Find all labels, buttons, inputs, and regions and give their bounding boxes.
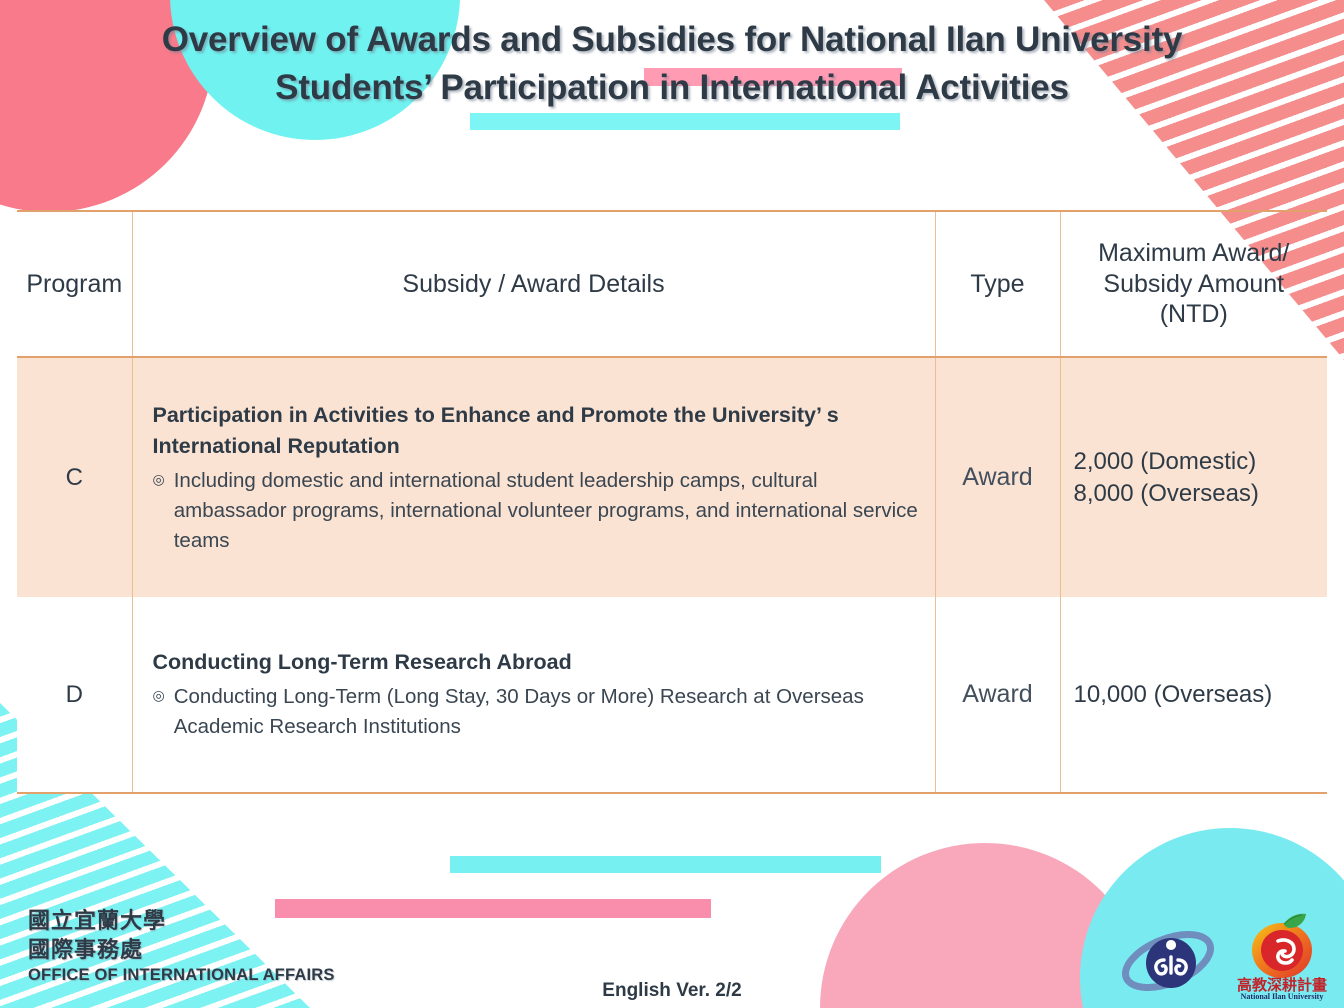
slide-title-line-2: Students’ Participation in International…	[0, 64, 1344, 112]
detail-bullet-d: ◎ Conducting Long-Term (Long Stay, 30 Da…	[153, 682, 919, 741]
table-body: C Participation in Activities to Enhance…	[17, 357, 1327, 793]
footer-organization: 國立宜蘭大學 國際事務處 OFFICE OF INTERNATIONAL AFF…	[28, 906, 335, 986]
column-header-amount-line-1: Maximum Award/	[1098, 239, 1289, 267]
table-row: D Conducting Long-Term Research Abroad ◎…	[17, 597, 1327, 793]
cell-program-d: D	[17, 597, 132, 793]
column-header-details: Subsidy / Award Details	[132, 211, 935, 357]
detail-bullet-text-d: Conducting Long-Term (Long Stay, 30 Days…	[174, 682, 919, 741]
org-name-chinese: 國立宜蘭大學	[28, 906, 335, 935]
column-header-amount-line-2: Subsidy Amount	[1103, 270, 1284, 298]
table-header-row: Program Subsidy / Award Details Type Max…	[17, 211, 1327, 357]
detail-heading-c: Participation in Activities to Enhance a…	[153, 400, 919, 462]
amount-line-2-c: 8,000 (Overseas)	[1074, 478, 1328, 510]
cell-amount-c: 2,000 (Domestic) 8,000 (Overseas)	[1060, 357, 1327, 597]
logo-program-english: National Ilan University	[1241, 992, 1324, 1001]
column-header-amount-line-3: (NTD)	[1160, 300, 1228, 328]
decor-highlight-bar-cyan-title	[470, 113, 900, 130]
decor-accent-bar-cyan-footer	[450, 856, 881, 873]
column-header-type: Type	[935, 211, 1060, 357]
bullet-ring-icon: ◎	[153, 682, 165, 709]
detail-bullet-c: ◎ Including domestic and international s…	[153, 466, 919, 555]
detail-heading-d: Conducting Long-Term Research Abroad	[153, 647, 919, 678]
table-header: Program Subsidy / Award Details Type Max…	[17, 211, 1327, 357]
slide-title-line-1: Overview of Awards and Subsidies for Nat…	[0, 16, 1344, 64]
cell-type-c: Award	[935, 357, 1060, 597]
table-row: C Participation in Activities to Enhance…	[17, 357, 1327, 597]
amount-line-1-c: 2,000 (Domestic)	[1074, 446, 1328, 478]
higher-education-program-logo: 高教深耕計畫 National Ilan University	[1234, 910, 1330, 1002]
detail-bullet-text-c: Including domestic and international stu…	[174, 466, 919, 555]
footer-logos: 高教深耕計畫 National Ilan University	[1116, 910, 1330, 1002]
column-header-amount: Maximum Award/ Subsidy Amount (NTD)	[1060, 211, 1327, 357]
cell-details-d: Conducting Long-Term Research Abroad ◎ C…	[132, 597, 935, 793]
cell-amount-d: 10,000 (Overseas)	[1060, 597, 1327, 793]
awards-table-container: Program Subsidy / Award Details Type Max…	[17, 210, 1327, 794]
bullet-ring-icon: ◎	[153, 466, 165, 493]
org-department-chinese: 國際事務處	[28, 935, 335, 964]
university-emblem-icon	[1116, 920, 1220, 1002]
decor-accent-bar-pink-footer	[275, 899, 711, 918]
cell-program-c: C	[17, 357, 132, 597]
slide-title: Overview of Awards and Subsidies for Nat…	[0, 16, 1344, 112]
slide-canvas: Overview of Awards and Subsidies for Nat…	[0, 0, 1344, 1008]
column-header-program: Program	[17, 211, 132, 357]
awards-table: Program Subsidy / Award Details Type Max…	[17, 210, 1327, 794]
cell-details-c: Participation in Activities to Enhance a…	[132, 357, 935, 597]
amount-line-1-d: 10,000 (Overseas)	[1074, 679, 1328, 711]
cell-type-d: Award	[935, 597, 1060, 793]
